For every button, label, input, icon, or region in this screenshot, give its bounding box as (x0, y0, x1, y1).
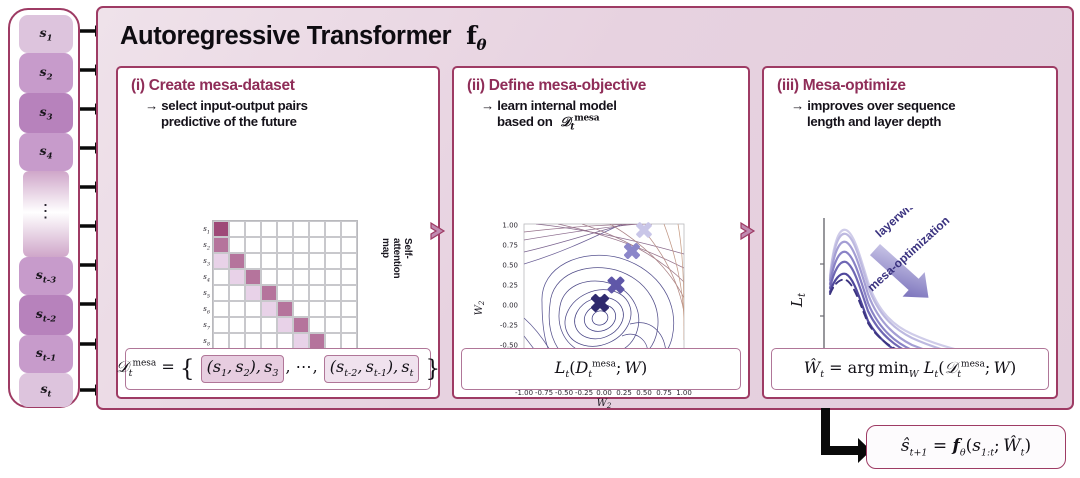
token-stack: s1 s2 s3 s4 ⋮ st-3 st-2 st-1 (19, 15, 73, 405)
attention-cell-r1-c5 (277, 221, 293, 237)
formula-text: Lt(Dtmesa; W) (555, 358, 648, 380)
attention-row-label: s3 (194, 257, 210, 267)
attention-cell-r5-c9 (341, 285, 357, 301)
attention-cell-r2-c3 (245, 237, 261, 253)
token-sub: 1 (47, 33, 53, 43)
arrow-right-glyph: → (145, 98, 158, 113)
arrow-right-glyph: → (791, 98, 804, 113)
panel-subtitle: → learn internal model based on 𝒟tmesa (481, 98, 742, 134)
svg-text:0.50: 0.50 (502, 262, 518, 270)
attention-cell-r4-c4 (261, 269, 277, 285)
attention-cell-r2-c2 (229, 237, 245, 253)
final-prediction-formula: ŝt+1 = fθ(s1:t; Ŵt) (866, 425, 1066, 469)
attention-cell-r1-c6 (293, 221, 309, 237)
attention-cell-r7-c4 (261, 317, 277, 333)
ellipsis: ⋮ (19, 201, 73, 222)
panel-mesa-optimize: (iii) Mesa-optimize → improves over sequ… (762, 66, 1058, 399)
mesa-dataset-formula: 𝒟tmesa = { (s1, s2), s3, ⋯, (st-2, st-1)… (125, 348, 431, 390)
token-sub: t-2 (43, 314, 56, 324)
panel-subtitle-line-1: improves over sequence (807, 98, 955, 113)
svg-text:0.50: 0.50 (636, 389, 652, 397)
attention-cell-r6-c8 (325, 301, 341, 317)
attention-cell-r4-c5 (277, 269, 293, 285)
attention-cell-r8-c5 (277, 333, 293, 349)
token-sub: t (48, 389, 52, 399)
attention-cell-r2-c8 (325, 237, 341, 253)
attention-cell-r7-c7 (309, 317, 325, 333)
attention-cell-r2-c9 (341, 237, 357, 253)
attention-cell-r6-c6 (293, 301, 309, 317)
attention-cell-r1-c1 (213, 221, 229, 237)
attention-cell-r5-c2 (229, 285, 245, 301)
attention-cell-r1-c9 (341, 221, 357, 237)
token-label: s (40, 25, 47, 40)
attention-cell-r3-c3 (245, 253, 261, 269)
attention-cell-r8-c6 (293, 333, 309, 349)
svg-text:-0.50: -0.50 (555, 389, 573, 397)
attention-cell-r4-c6 (293, 269, 309, 285)
attention-cell-r7-c8 (325, 317, 341, 333)
panel-header: (iii) Mesa-optimize → improves over sequ… (777, 77, 1050, 130)
panel-subtitle-line-2: based on (497, 114, 553, 130)
panel-subtitle-line-2: predictive of the future (161, 114, 297, 130)
attention-cell-r1-c2 (229, 221, 245, 237)
attention-cell-r3-c6 (293, 253, 309, 269)
list-item: st-1 (19, 335, 73, 373)
svg-text:0.75: 0.75 (656, 389, 672, 397)
panel-create-mesa-dataset: (i) Create mesa-dataset → select input-o… (116, 66, 440, 399)
panel-subtitle: → select input-output pairs predictive o… (145, 98, 432, 130)
svg-text:0.00: 0.00 (502, 302, 518, 310)
attention-cell-r6-c3 (245, 301, 261, 317)
attention-side-label: Self-attention map (380, 238, 413, 278)
attention-cell-r8-c9 (341, 333, 357, 349)
panel-subtitle: → improves over sequence length and laye… (791, 98, 1050, 130)
attention-cell-r6-c9 (341, 301, 357, 317)
attention-row-label: s4 (194, 273, 210, 283)
svg-text:0.75: 0.75 (502, 242, 518, 250)
attention-cell-r4-c3 (245, 269, 261, 285)
formula-text: ŝt+1 = fθ(s1:t; Ŵt) (901, 436, 1031, 458)
chevron-right-icon (430, 220, 448, 242)
token-label: s (41, 381, 48, 396)
attention-cell-r7-c6 (293, 317, 309, 333)
annotation-line-1: layerwise (873, 208, 923, 240)
list-item: st-3 (19, 257, 73, 295)
svg-text:0.25: 0.25 (502, 282, 518, 290)
attention-cell-r5-c4 (261, 285, 277, 301)
attention-cell-r2-c1 (213, 237, 229, 253)
attention-cell-r2-c5 (277, 237, 293, 253)
panel-subtitle-math: 𝒟tmesa (556, 115, 599, 130)
attention-row-label: s2 (194, 241, 210, 251)
attention-cell-r5-c5 (277, 285, 293, 301)
attention-cell-r4-c1 (213, 269, 229, 285)
svg-text:-0.25: -0.25 (575, 389, 593, 397)
attention-row-label: s7 (194, 321, 210, 331)
chevron-right-icon (740, 220, 758, 242)
attention-cell-r3-c7 (309, 253, 325, 269)
token-label: s (40, 143, 47, 158)
attention-cell-r3-c4 (261, 253, 277, 269)
attention-cell-r5-c7 (309, 285, 325, 301)
y-axis-label: Lt (788, 292, 808, 308)
svg-text:-1.00: -1.00 (515, 389, 533, 397)
attention-cell-r5-c3 (245, 285, 261, 301)
attention-cell-r5-c6 (293, 285, 309, 301)
attention-cell-r7-c9 (341, 317, 357, 333)
attention-row-label: s5 (194, 289, 210, 299)
attention-cell-r7-c5 (277, 317, 293, 333)
list-item: s4 (19, 133, 73, 171)
attention-cell-r1-c3 (245, 221, 261, 237)
attention-row-label: s6 (194, 305, 210, 315)
attention-cell-r2-c6 (293, 237, 309, 253)
token-sub: 2 (47, 72, 53, 82)
token-sub: t-3 (43, 275, 56, 285)
attention-row-label: s1 (194, 225, 210, 235)
attention-cell-r7-c1 (213, 317, 229, 333)
attention-cell-r8-c8 (325, 333, 341, 349)
list-item: s2 (19, 53, 73, 93)
panel-title: (ii) Define mesa-objective (467, 77, 742, 95)
attention-cell-r5-c8 (325, 285, 341, 301)
token-sub: t-1 (43, 353, 56, 363)
attention-cell-r8-c7 (309, 333, 325, 349)
panel-header: (i) Create mesa-dataset → select input-o… (131, 77, 432, 130)
page-title-math: fθ (458, 21, 486, 50)
panel-header: (ii) Define mesa-objective → learn inter… (467, 77, 742, 134)
arrow-right-glyph: → (481, 98, 494, 113)
attention-cell-r2-c7 (309, 237, 325, 253)
svg-text:0.00: 0.00 (596, 389, 612, 397)
panel-subtitle-line-1: select input-output pairs (161, 98, 307, 113)
mesa-optimize-formula: Ŵt = arg minW Lt(𝒟tmesa; W) (771, 348, 1049, 390)
attention-cell-r3-c8 (325, 253, 341, 269)
formula-text: Ŵt = arg minW Lt(𝒟tmesa; W) (804, 358, 1016, 380)
attention-cell-r7-c3 (245, 317, 261, 333)
attention-cell-r4-c9 (341, 269, 357, 285)
attention-cell-r1-c8 (325, 221, 341, 237)
page-title-text: Autoregressive Transformer (120, 22, 451, 50)
formula-text: 𝒟tmesa = { (s1, s2), s3, ⋯, (st-2, st-1)… (116, 355, 440, 382)
panel-define-mesa-objective: (ii) Define mesa-objective → learn inter… (452, 66, 750, 399)
attention-cell-r1-c4 (261, 221, 277, 237)
panel-subtitle-line-1: learn internal model (497, 98, 616, 113)
list-item: s1 (19, 15, 73, 53)
y-axis-label: W2 (474, 300, 486, 315)
transformer-frame: Autoregressive Transformer fθ (i) Create… (96, 6, 1074, 410)
attention-cell-r8-c2 (229, 333, 245, 349)
x-axis-label: W2 (597, 398, 612, 408)
list-item: st-2 (19, 295, 73, 335)
list-item: s3 (19, 93, 73, 133)
attention-cell-r3-c5 (277, 253, 293, 269)
token-label: s (36, 306, 43, 321)
mesa-objective-formula: Lt(Dtmesa; W) (461, 348, 741, 390)
attention-cell-r6-c1 (213, 301, 229, 317)
attention-cell-r6-c7 (309, 301, 325, 317)
pair-chip: (st-2, st-1), st (324, 355, 420, 382)
attention-row-label: s8 (194, 337, 210, 347)
svg-text:-0.25: -0.25 (500, 322, 518, 330)
attention-cell-r3-c2 (229, 253, 245, 269)
token-label: s (36, 267, 43, 282)
input-token-sequence: s1 s2 s3 s4 ⋮ st-3 st-2 st-1 (8, 8, 80, 408)
figure-root: s1 s2 s3 s4 ⋮ st-3 st-2 st-1 (0, 0, 1080, 478)
svg-text:-0.75: -0.75 (535, 389, 553, 397)
attention-cell-r7-c2 (229, 317, 245, 333)
svg-text:1.00: 1.00 (502, 222, 518, 230)
list-item: st (19, 373, 73, 407)
attention-cell-r4-c2 (229, 269, 245, 285)
panel-title: (i) Create mesa-dataset (131, 77, 432, 95)
attention-cell-r2-c4 (261, 237, 277, 253)
attention-cell-r6-c4 (261, 301, 277, 317)
attention-cell-r6-c5 (277, 301, 293, 317)
svg-text:0.25: 0.25 (616, 389, 632, 397)
pair-chip: (s1, s2), s3 (201, 355, 285, 382)
attention-cell-r8-c3 (245, 333, 261, 349)
attention-cell-r3-c1 (213, 253, 229, 269)
attention-cell-r4-c8 (325, 269, 341, 285)
attention-cell-r6-c2 (229, 301, 245, 317)
token-sub: 4 (47, 151, 53, 161)
attention-grid (212, 220, 358, 366)
panel-title: (iii) Mesa-optimize (777, 77, 1050, 95)
token-sub: 3 (47, 112, 53, 122)
token-label: s (36, 345, 43, 360)
page-title: Autoregressive Transformer fθ (120, 21, 486, 54)
token-label: s (40, 104, 47, 119)
token-label: s (40, 64, 47, 79)
attention-cell-r1-c7 (309, 221, 325, 237)
attention-cell-r8-c1 (213, 333, 229, 349)
attention-cell-r8-c4 (261, 333, 277, 349)
attention-cell-r4-c7 (309, 269, 325, 285)
attention-cell-r3-c9 (341, 253, 357, 269)
attention-cell-r5-c1 (213, 285, 229, 301)
panel-subtitle-line-2: length and layer depth (807, 114, 941, 130)
svg-text:1.00: 1.00 (676, 389, 692, 397)
